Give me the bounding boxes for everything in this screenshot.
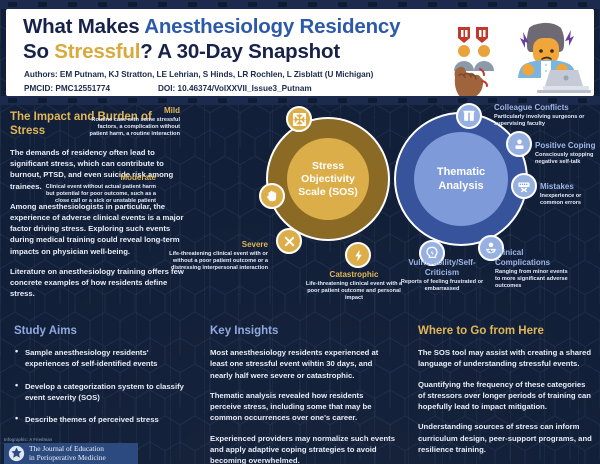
theme-positive-coping: Positive Coping Consciously stopping neg… xyxy=(535,141,599,166)
future-directions-section: Where to Go from Here The SOS tool may a… xyxy=(418,324,594,464)
sos-level-moderate: Moderate Clinical event without actual p… xyxy=(36,173,156,205)
future-paragraph-3: Understanding sources of stress can info… xyxy=(418,421,594,455)
thematic-inner-circle: Thematic Analysis xyxy=(414,132,508,226)
theme-positive-coping-desc: Consciously stopping negative self-talk xyxy=(535,152,599,166)
theme-mistakes-title: Mistakes xyxy=(540,182,598,192)
title-highlight-stressful: Stressful xyxy=(54,40,140,63)
keyboard-error-icon[interactable] xyxy=(511,173,537,199)
theme-mistakes: Mistakes Inexperience or common errors xyxy=(540,182,598,207)
sos-label: Stress Objectivity Scale (SOS) xyxy=(287,160,369,199)
expand-arrows-icon[interactable] xyxy=(286,106,312,132)
sos-level-catastrophic: Catastrophic Life-threatening clinical e… xyxy=(300,270,408,302)
study-aims-item: Sample anesthesiology residents' experie… xyxy=(14,347,190,370)
title-highlight-anesthesiology: Anesthesiology Residency xyxy=(144,15,400,38)
sos-level-severe-title: Severe xyxy=(168,240,268,250)
title-text-3: ? A 30-Day Snapshot xyxy=(140,40,340,63)
top-decorative-band xyxy=(0,0,600,9)
person-icon[interactable] xyxy=(506,131,532,157)
key-insights-paragraph-3: Experienced providers may normalize such… xyxy=(210,433,396,464)
journal-name-line-2: in Perioperative Medicine xyxy=(29,454,106,463)
study-aims-section: Study Aims Sample anesthesiology residen… xyxy=(14,324,190,436)
theme-colleague-conflicts-desc: Particularly involving surgeons or super… xyxy=(494,114,598,128)
key-insights-section: Key Insights Most anesthesiology residen… xyxy=(210,324,396,464)
stressed-person-laptop-illustration xyxy=(503,20,593,96)
theme-clinical-complications-title: Clinical Complications xyxy=(495,248,571,267)
sos-level-severe: Severe Life-threatening clinical event w… xyxy=(168,240,268,272)
header-panel: What Makes Anesthesiology Residency So S… xyxy=(6,9,594,96)
theme-mistakes-desc: Inexperience or common errors xyxy=(540,193,598,207)
theme-clinical-complications-desc: Ranging from minor events to more signif… xyxy=(495,269,571,290)
theme-vulnerability-desc: Reports of feeling frustrated or embarra… xyxy=(398,279,486,293)
theme-vulnerability-title: Vulnerability/Self-Criticism xyxy=(398,258,486,277)
study-aims-heading: Study Aims xyxy=(14,324,190,338)
title-text-2: So xyxy=(23,40,54,63)
sos-level-moderate-title: Moderate xyxy=(36,173,156,183)
theme-clinical-complications: Clinical Complications Ranging from mino… xyxy=(495,248,571,290)
two-people-icon[interactable] xyxy=(456,103,482,129)
journal-emblem-icon xyxy=(7,444,26,463)
journal-name: The Journal of Education in Perioperativ… xyxy=(29,445,106,462)
study-aims-list: Sample anesthesiology residents' experie… xyxy=(14,347,190,425)
page-title: What Makes Anesthesiology Residency So S… xyxy=(23,14,400,64)
sos-level-mild-desc: Routine case with some stressful factors… xyxy=(88,117,180,138)
journal-logo-bar: The Journal of Education in Perioperativ… xyxy=(4,443,138,464)
sos-level-mild-title: Mild xyxy=(88,106,180,116)
future-directions-heading: Where to Go from Here xyxy=(418,324,594,338)
lightning-bolt-icon[interactable] xyxy=(345,242,371,268)
raised-hand-icon[interactable] xyxy=(259,183,285,209)
future-paragraph-1: The SOS tool may assist with creating a … xyxy=(418,347,594,370)
key-insights-paragraph-2: Thematic analysis revealed how residents… xyxy=(210,390,396,424)
infographic-credit: Infographic: A Friedman xyxy=(4,437,52,442)
key-insights-paragraph-1: Most anesthesiology residents experience… xyxy=(210,347,396,381)
sos-level-severe-desc: Life-threatening clinical event with or … xyxy=(168,251,268,272)
sos-level-moderate-desc: Clinical event without actual patient ha… xyxy=(36,184,156,205)
future-paragraph-2: Quantifying the frequency of these categ… xyxy=(418,379,594,413)
theme-colleague-conflicts-title: Colleague Conflicts xyxy=(494,103,598,113)
doi-line: DOI: 10.46374/VolXXVII_Issue3_Putnam xyxy=(158,84,312,93)
study-aims-item: Develop a categorization system to class… xyxy=(14,381,190,404)
key-insights-heading: Key Insights xyxy=(210,324,396,338)
theme-colleague-conflicts: Colleague Conflicts Particularly involvi… xyxy=(494,103,598,128)
fist-illustration xyxy=(446,61,488,96)
x-circle-icon[interactable] xyxy=(276,228,302,254)
title-text-1: What Makes xyxy=(23,15,144,38)
study-aims-item: Describe themes of perceived stress xyxy=(14,414,190,425)
sos-inner-circle: Stress Objectivity Scale (SOS) xyxy=(287,138,369,220)
sos-level-catastrophic-title: Catastrophic xyxy=(300,270,408,280)
sos-level-catastrophic-desc: Life-threatening clinical event with a p… xyxy=(300,281,408,302)
infographic-poster: What Makes Anesthesiology Residency So S… xyxy=(0,0,600,464)
authors-line: Authors: EM Putnam, KJ Stratton, LE Lehr… xyxy=(24,70,373,79)
theme-positive-coping-title: Positive Coping xyxy=(535,141,599,151)
theme-vulnerability-self-criticism: Vulnerability/Self-Criticism Reports of … xyxy=(398,258,486,293)
sos-level-mild: Mild Routine case with some stressful fa… xyxy=(88,106,180,138)
thematic-label: Thematic Analysis xyxy=(414,165,508,193)
stress-diagram: Stress Objectivity Scale (SOS) Thematic … xyxy=(0,100,600,315)
pmcid-line: PMCID: PMC12551774 xyxy=(24,84,110,93)
